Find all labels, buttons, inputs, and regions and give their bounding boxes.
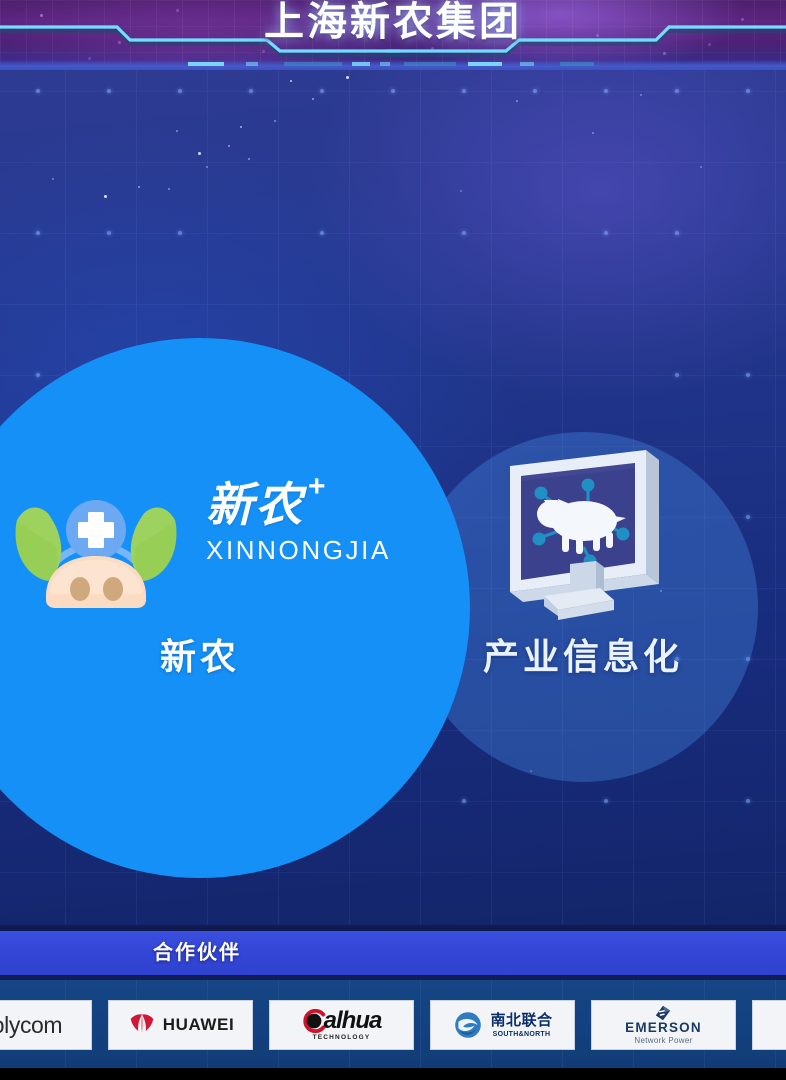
- partner-logo-huawei[interactable]: HUAWEI: [108, 1000, 253, 1050]
- xinnong-label: 新农: [0, 628, 470, 680]
- partner-logo-list: Polycom HUAWEI: [0, 1000, 786, 1050]
- partner-logo-six[interactable]: [752, 1000, 786, 1050]
- southnorth-wordmark-cn: 南北联合: [490, 1013, 552, 1028]
- partners-band-container: 合作伙伴: [0, 925, 786, 980]
- emerson-mark-icon: [655, 1005, 671, 1021]
- partners-logo-strip: Polycom HUAWEI: [0, 980, 786, 1068]
- southnorth-globe-icon: [452, 1009, 484, 1041]
- partners-title: 合作伙伴: [0, 931, 590, 975]
- dahua-swoosh-icon: [302, 1009, 326, 1033]
- emerson-wordmark: EMERSON: [625, 1021, 702, 1035]
- dashboard-screen: 上海新农集团: [0, 0, 786, 1080]
- dahua-wordmark: alhua: [324, 1009, 382, 1033]
- dahua-tagline: TECHNOLOGY: [313, 1035, 371, 1042]
- partner-logo-emerson[interactable]: EMERSON Network Power: [591, 1000, 736, 1050]
- huawei-petals-icon: [127, 1010, 157, 1040]
- huawei-wordmark: HUAWEI: [163, 1015, 235, 1035]
- monitor-pig-network-icon: [496, 444, 676, 634]
- main-canvas: 产业信息化: [0, 70, 786, 925]
- emerson-tagline: Network Power: [634, 1037, 692, 1045]
- xinnong-wordmark: 新农+ XINNONGJIA: [206, 478, 456, 566]
- partner-logo-dahua[interactable]: alhua TECHNOLOGY: [269, 1000, 414, 1050]
- page-header: 上海新农集团: [0, 0, 786, 70]
- page-title: 上海新农集团: [0, 0, 786, 48]
- xinnong-wordmark-plus: +: [308, 470, 326, 503]
- xinnong-wordmark-cn: 新农: [206, 478, 304, 532]
- partner-logo-southnorth[interactable]: 南北联合 SOUTH&NORTH: [430, 1000, 575, 1050]
- southnorth-wordmark-en: SOUTH&NORTH: [493, 1031, 551, 1038]
- pig-leaf-plus-logo-icon: [6, 472, 186, 612]
- polycom-wordmark: Polycom: [0, 1012, 62, 1039]
- partners-band: 合作伙伴: [0, 931, 786, 975]
- partner-logo-polycom[interactable]: Polycom: [0, 1000, 92, 1050]
- screen-bottom-edge: [0, 1068, 786, 1080]
- xinnong-wordmark-en: XINNONGJIA: [206, 534, 456, 566]
